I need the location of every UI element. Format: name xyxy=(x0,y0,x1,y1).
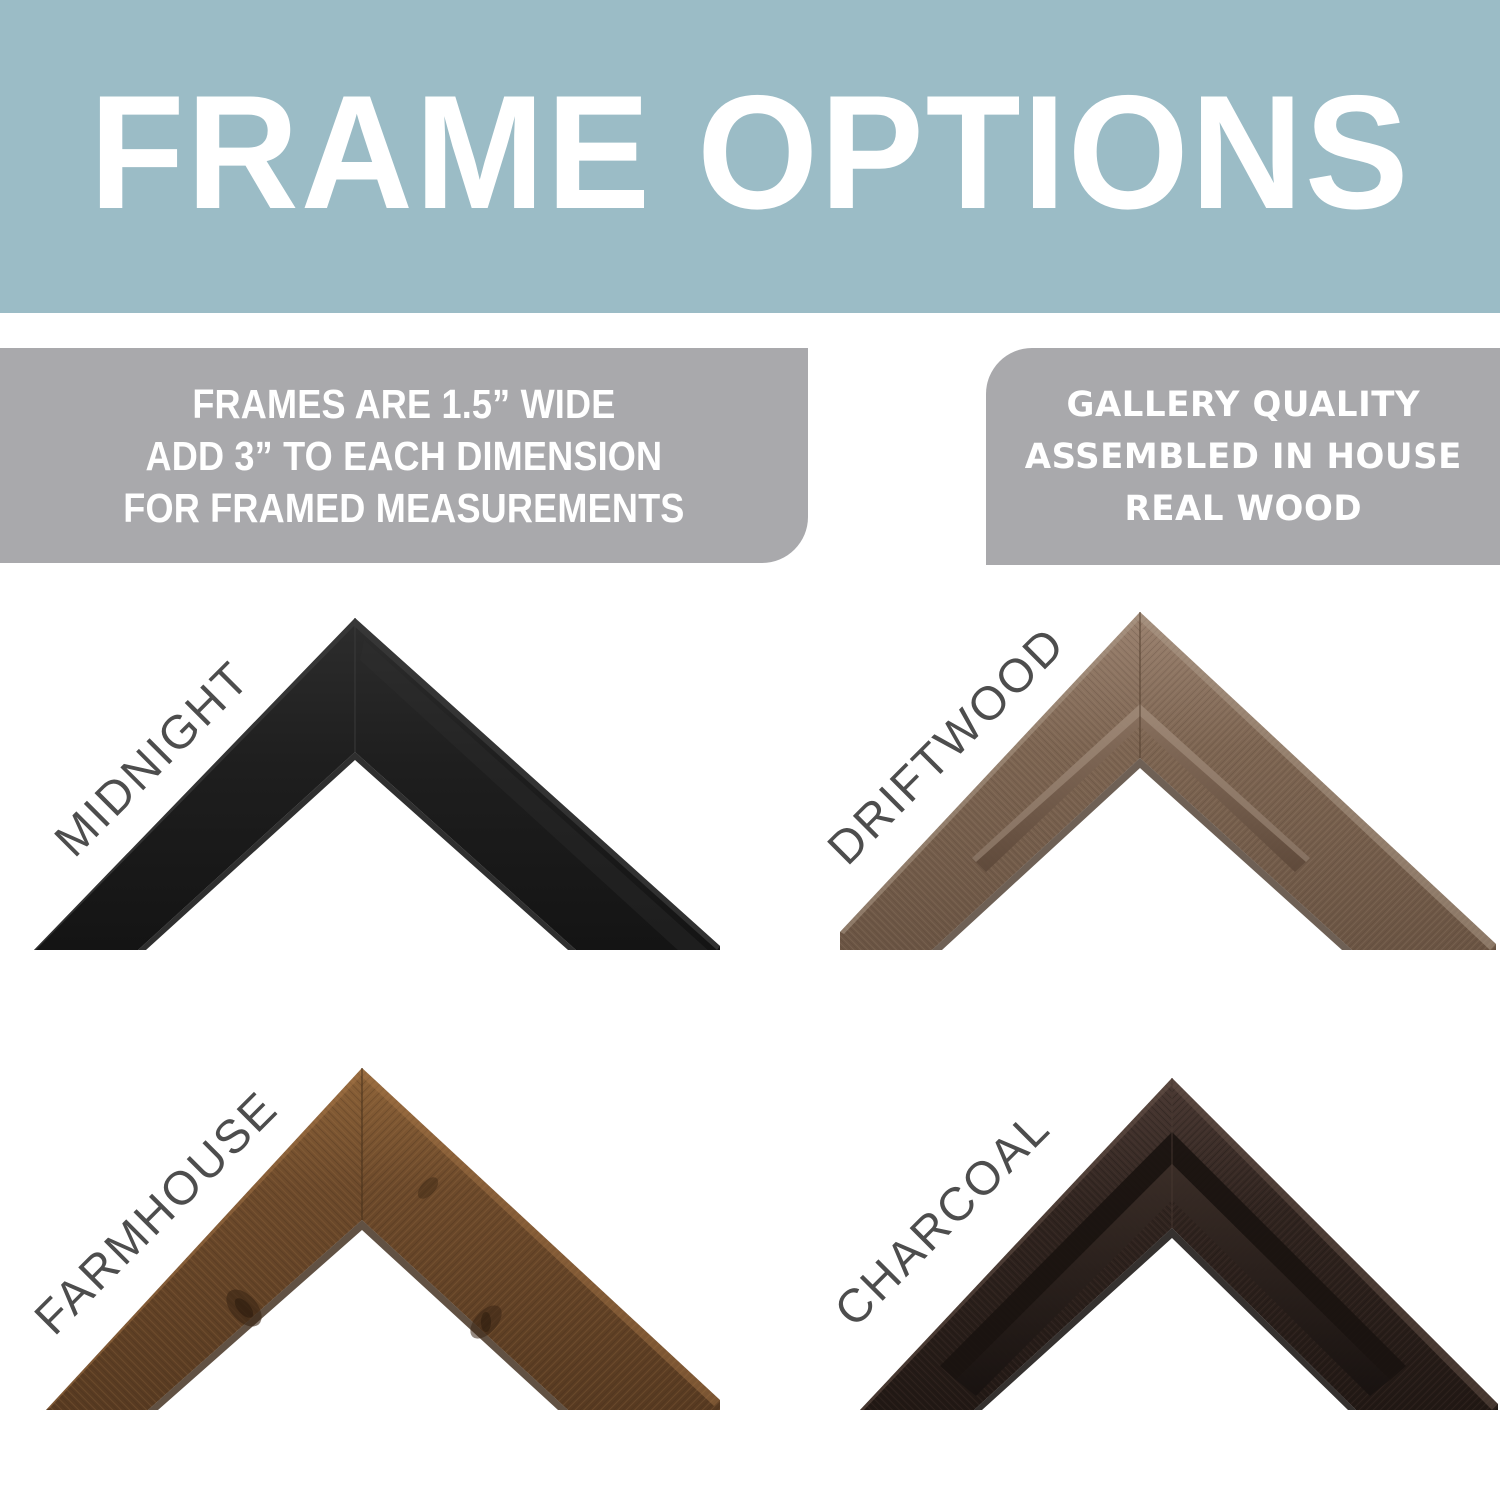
info-line: GALLERY QUALITY xyxy=(1024,379,1461,431)
frame-corner-graphic-midnight xyxy=(20,600,720,950)
frame-corner-graphic-driftwood xyxy=(840,600,1500,950)
info-line: FRAMES ARE 1.5” WIDE xyxy=(123,378,684,430)
infographic-canvas: FRAME OPTIONS FRAMES ARE 1.5” WIDE ADD 3… xyxy=(0,0,1500,1500)
info-box-quality: GALLERY QUALITY ASSEMBLED IN HOUSE REAL … xyxy=(986,348,1500,565)
info-box-measurements-text: FRAMES ARE 1.5” WIDE ADD 3” TO EACH DIME… xyxy=(85,378,723,534)
frame-corner-graphic-farmhouse xyxy=(30,1060,720,1410)
info-line: ASSEMBLED IN HOUSE xyxy=(1024,431,1461,483)
info-line: REAL WOOD xyxy=(1024,483,1461,535)
frame-corner-graphic-charcoal xyxy=(850,1060,1500,1410)
page-title: FRAME OPTIONS xyxy=(30,0,1470,313)
frame-sample-driftwood[interactable] xyxy=(840,600,1500,950)
frame-sample-charcoal[interactable] xyxy=(850,1060,1500,1410)
frame-sample-farmhouse[interactable] xyxy=(30,1060,720,1410)
info-line: FOR FRAMED MEASUREMENTS xyxy=(123,482,684,534)
header-band: FRAME OPTIONS xyxy=(0,0,1500,313)
info-line: ADD 3” TO EACH DIMENSION xyxy=(123,430,684,482)
info-box-measurements: FRAMES ARE 1.5” WIDE ADD 3” TO EACH DIME… xyxy=(0,348,808,563)
frame-sample-midnight[interactable] xyxy=(20,600,720,950)
info-box-quality-text: GALLERY QUALITY ASSEMBLED IN HOUSE REAL … xyxy=(1018,379,1469,535)
